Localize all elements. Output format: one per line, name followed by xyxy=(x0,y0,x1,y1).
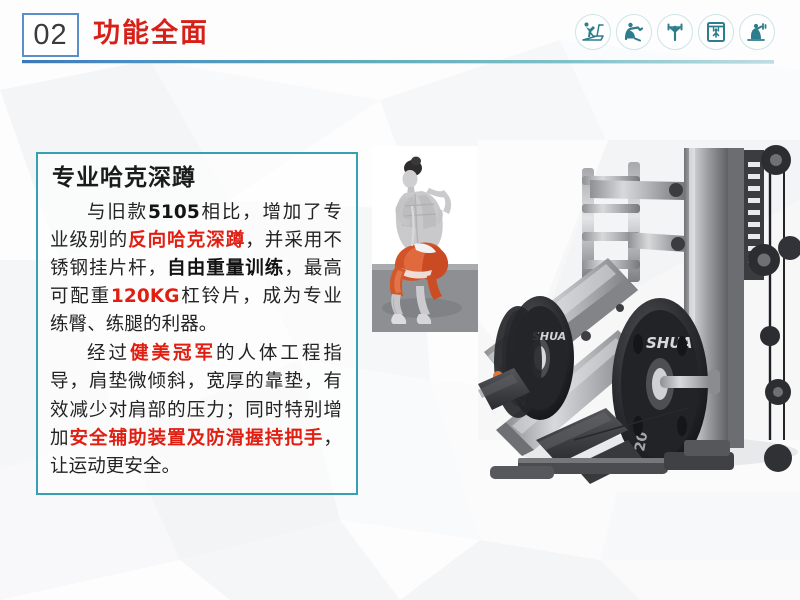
text-segment: 自由重量训练 xyxy=(167,258,284,279)
text-segment: 安全辅助装置及防滑握持把手 xyxy=(70,428,324,449)
slide-header: 02 功能全面 xyxy=(0,0,800,74)
slide-number-box: 02 xyxy=(22,13,79,57)
text-segment: 经过 xyxy=(87,343,130,364)
treadmill-icon xyxy=(575,14,611,50)
hack-squat-machine-photo: SHUA 20 SHUA 20 xyxy=(478,140,800,492)
page-title: 功能全面 xyxy=(93,16,209,51)
text-segment: 与旧款 xyxy=(87,202,148,223)
text-segment: 120KG xyxy=(111,286,180,307)
weightlifter-icon xyxy=(657,14,693,50)
panel-title: 专业哈克深蹲 xyxy=(52,164,342,193)
panel-paragraph-1: 与旧款5105相比，增加了专业级别的反向哈克深蹲，并采用不锈钢挂片杆，自由重量训… xyxy=(50,199,342,340)
text-segment: 健美冠军 xyxy=(130,343,216,364)
text-segment: 5105 xyxy=(148,202,200,223)
header-icon-strip xyxy=(575,14,775,50)
description-panel: 专业哈克深蹲 与旧款5105相比，增加了专业级别的反向哈克深蹲，并采用不锈钢挂片… xyxy=(36,152,358,495)
seated-press-icon xyxy=(739,14,775,50)
power-rack-icon xyxy=(698,14,734,50)
header-divider-shadow xyxy=(22,63,774,64)
panel-paragraph-2: 经过健美冠军的人体工程指导，肩垫微倾斜，宽厚的靠垫，有效减少对肩部的压力；同时特… xyxy=(50,340,342,481)
squat-anatomy-illustration xyxy=(372,146,485,332)
slide-number: 02 xyxy=(33,21,67,50)
text-segment: 反向哈克深蹲 xyxy=(128,230,245,251)
recumbent-bike-icon xyxy=(616,14,652,50)
